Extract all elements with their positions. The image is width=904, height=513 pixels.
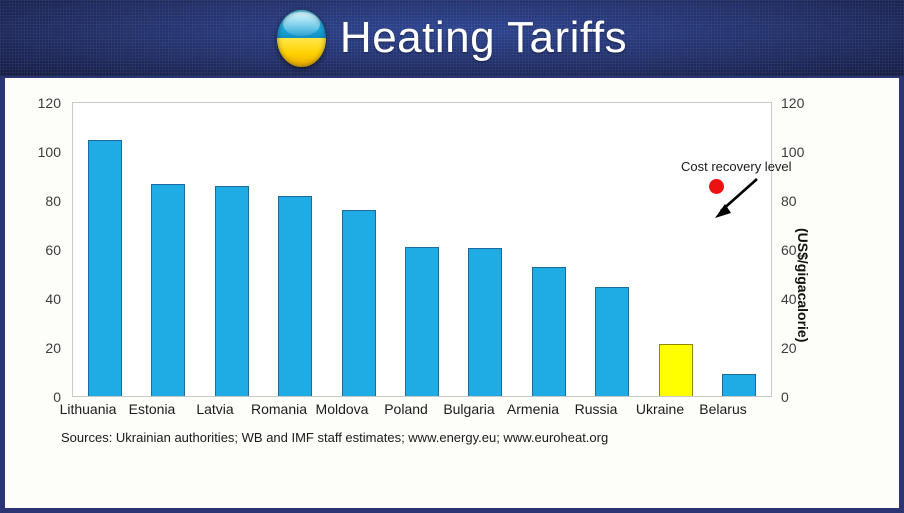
y-axis-right-tick: 100	[781, 145, 821, 159]
bar-slot	[517, 103, 580, 396]
bar-slot	[390, 103, 453, 396]
bar-poland[interactable]	[405, 247, 439, 396]
bar-slot	[708, 103, 771, 396]
bar-slot	[264, 103, 327, 396]
slide-screen: Heating Tariffs 120 100 80 60 40 20 0 12…	[0, 0, 904, 513]
bar-slot	[581, 103, 644, 396]
bar-armenia[interactable]	[532, 267, 566, 396]
bar-slot	[644, 103, 707, 396]
y-axis-right-tick: 20	[781, 341, 821, 355]
bar-lithuania[interactable]	[88, 140, 122, 396]
y-axis-right-tick: 0	[781, 390, 821, 404]
bar-slot	[327, 103, 390, 396]
x-axis-label-belarus: Belarus	[676, 402, 770, 416]
y-axis-left-tick: 40	[5, 292, 61, 306]
page-title: Heating Tariffs	[340, 16, 627, 60]
y-axis-right-tick: 80	[781, 194, 821, 208]
bar-russia[interactable]	[595, 287, 629, 396]
y-axis-left-tick: 100	[5, 145, 61, 159]
sources-note: Sources: Ukrainian authorities; WB and I…	[61, 430, 608, 445]
y-axis-left-tick: 80	[5, 194, 61, 208]
content-panel: 120 100 80 60 40 20 0 120 100 80 60 40 2…	[5, 78, 899, 508]
bar-slot	[73, 103, 136, 396]
bars-container	[73, 103, 771, 396]
banner-content: Heating Tariffs	[0, 0, 904, 76]
bar-slot	[454, 103, 517, 396]
flag-rim-shadow	[277, 10, 326, 67]
plot-area: Cost recovery level	[72, 102, 772, 397]
y-axis-left-tick: 20	[5, 341, 61, 355]
bar-latvia[interactable]	[215, 186, 249, 396]
bar-moldova[interactable]	[342, 210, 376, 396]
ukraine-flag-orb-icon	[277, 10, 326, 67]
y-axis-left-tick: 60	[5, 243, 61, 257]
y-axis-right-tick: 120	[781, 96, 821, 110]
y-axis-left-tick: 120	[5, 96, 61, 110]
cost-recovery-annotation-label: Cost recovery level	[681, 159, 792, 174]
bar-slot	[137, 103, 200, 396]
cost-recovery-marker-dot	[709, 179, 724, 194]
bar-belarus[interactable]	[722, 374, 756, 396]
title-banner: Heating Tariffs	[0, 0, 904, 76]
bar-bulgaria[interactable]	[468, 248, 502, 396]
bar-romania[interactable]	[278, 196, 312, 396]
bar-estonia[interactable]	[151, 184, 185, 396]
heating-tariffs-bar-chart: 120 100 80 60 40 20 0 120 100 80 60 40 2…	[5, 78, 899, 508]
bar-slot	[200, 103, 263, 396]
bar-ukraine[interactable]	[659, 344, 693, 396]
y-axis-right-title: (US$/gigacalorie)	[795, 228, 811, 342]
